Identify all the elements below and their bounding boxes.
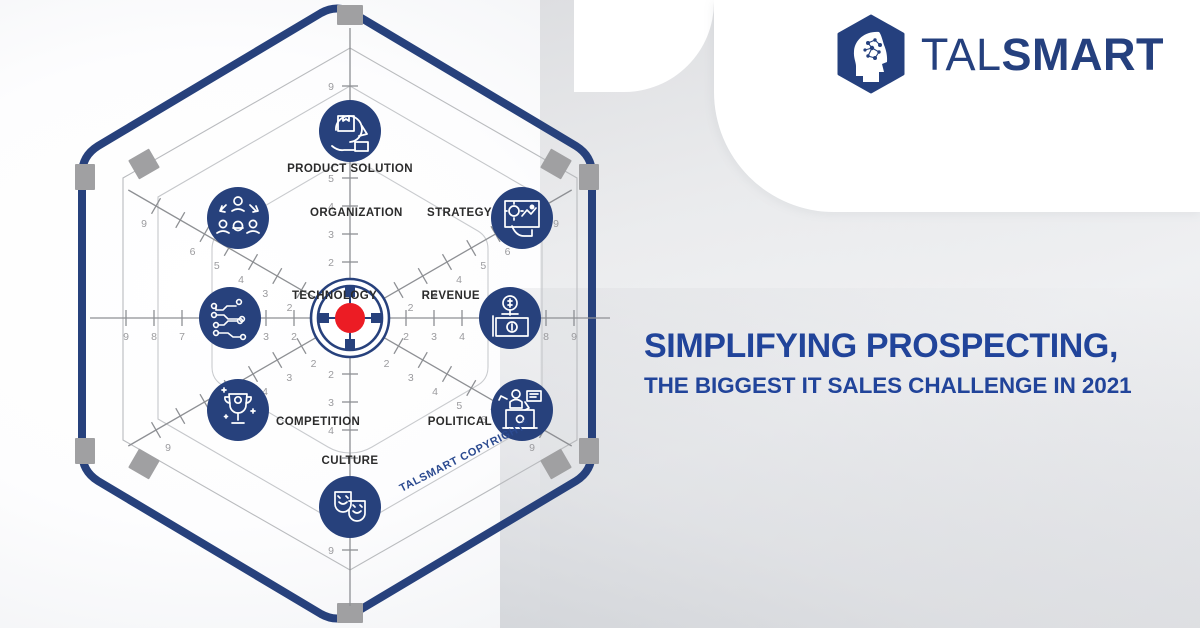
brand-name-part2: SMART (1002, 29, 1164, 80)
brand-name-part1: TAL (921, 29, 1002, 80)
brand-logo[interactable]: TALSMART (835, 14, 1164, 94)
axis-label-revenue: REVENUE (422, 290, 480, 302)
svg-text:9: 9 (571, 331, 577, 343)
svg-text:2: 2 (408, 302, 414, 314)
logo-panel: TALSMART (714, 0, 1200, 212)
svg-text:4: 4 (238, 274, 244, 286)
svg-text:5: 5 (480, 260, 486, 272)
svg-text:8: 8 (151, 331, 157, 343)
headline-block: SIMPLIFYING PROSPECTING, THE BIGGEST IT … (644, 328, 1184, 398)
copyright-label: TALSMART COPYRIGHT (398, 421, 527, 495)
axis-label-political: POLITICAL (428, 416, 492, 428)
svg-text:9: 9 (165, 442, 171, 454)
svg-text:4: 4 (456, 274, 462, 286)
svg-text:6: 6 (505, 246, 511, 258)
axis-label-competition: COMPETITION (276, 416, 360, 428)
svg-text:3: 3 (286, 372, 292, 384)
svg-text:3: 3 (263, 331, 269, 343)
axis-label-strategy: STRATEGY (427, 207, 492, 219)
axis-node-political[interactable]: POLITICAL (428, 379, 553, 441)
svg-text:2: 2 (384, 358, 390, 370)
svg-text:9: 9 (529, 442, 535, 454)
svg-text:6: 6 (190, 246, 196, 258)
svg-text:4: 4 (432, 386, 438, 398)
headline-line-1: SIMPLIFYING PROSPECTING, (644, 328, 1184, 365)
axis-node-organization[interactable]: ORGANIZATION (207, 187, 403, 249)
axis-label-product-solution: PRODUCT SOLUTION (287, 163, 413, 175)
svg-text:2: 2 (311, 358, 317, 370)
head-network-hexagon-icon (835, 14, 907, 94)
svg-text:3: 3 (431, 331, 437, 343)
svg-text:3: 3 (328, 397, 334, 409)
svg-text:4: 4 (459, 331, 465, 343)
svg-text:TALSMART COPYRIGHT®: TALSMART COPYRIGHT® (397, 417, 532, 494)
svg-text:5: 5 (214, 260, 220, 272)
svg-text:3: 3 (408, 372, 414, 384)
axis-label-culture: CULTURE (322, 455, 379, 467)
axis-label-organization: ORGANIZATION (310, 207, 403, 219)
prospecting-radar-diagram: 12 34 78 9 12 34 78 9 (40, 0, 660, 628)
axis-label-technology: TECHNOLOGY (292, 290, 377, 302)
svg-text:9: 9 (123, 331, 129, 343)
svg-text:8: 8 (543, 331, 549, 343)
svg-text:9: 9 (141, 218, 147, 230)
svg-text:7: 7 (179, 331, 185, 343)
axis-node-competition[interactable]: COMPETITION (207, 379, 360, 441)
axis-node-strategy[interactable]: STRATEGY (427, 187, 553, 249)
svg-text:2: 2 (328, 257, 334, 269)
svg-text:9: 9 (328, 81, 334, 93)
svg-text:2: 2 (291, 331, 297, 343)
svg-text:2: 2 (287, 302, 293, 314)
brand-wordmark: TALSMART (921, 32, 1164, 77)
svg-text:2: 2 (403, 331, 409, 343)
svg-text:2: 2 (328, 369, 334, 381)
banner-canvas: TALSMART SIMPLIFYING PROSPECTING, THE BI… (0, 0, 1200, 628)
svg-text:9: 9 (553, 218, 559, 230)
svg-text:9: 9 (328, 545, 334, 557)
svg-text:3: 3 (328, 229, 334, 241)
headline-line-2: THE BIGGEST IT SALES CHALLENGE IN 2021 (644, 374, 1184, 399)
copyright-annotation: TALSMART COPYRIGHT® (397, 417, 532, 494)
svg-text:3: 3 (262, 288, 268, 300)
svg-text:5: 5 (456, 400, 462, 412)
